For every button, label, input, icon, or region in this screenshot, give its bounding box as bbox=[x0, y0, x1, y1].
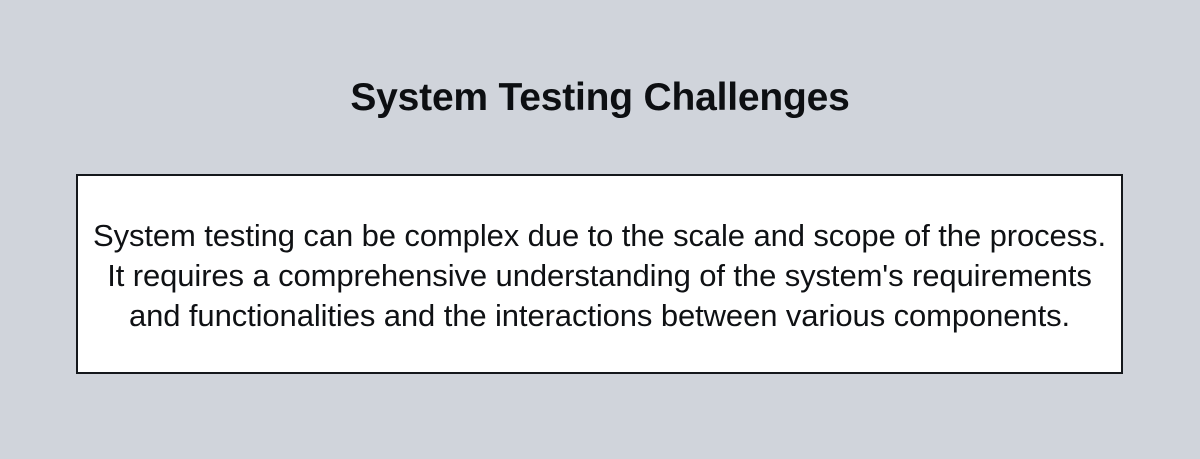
card-body-line: It requires a comprehensive understandin… bbox=[78, 256, 1121, 296]
card-body-line: and functionalities and the interactions… bbox=[78, 296, 1121, 336]
card-body-line: System testing can be complex due to the… bbox=[78, 216, 1121, 256]
page-title: System Testing Challenges bbox=[0, 74, 1200, 122]
slide-root: System Testing Challenges System testing… bbox=[0, 0, 1200, 459]
card-body-text: System testing can be complex due to the… bbox=[78, 216, 1121, 336]
content-card: System testing can be complex due to the… bbox=[76, 174, 1123, 374]
